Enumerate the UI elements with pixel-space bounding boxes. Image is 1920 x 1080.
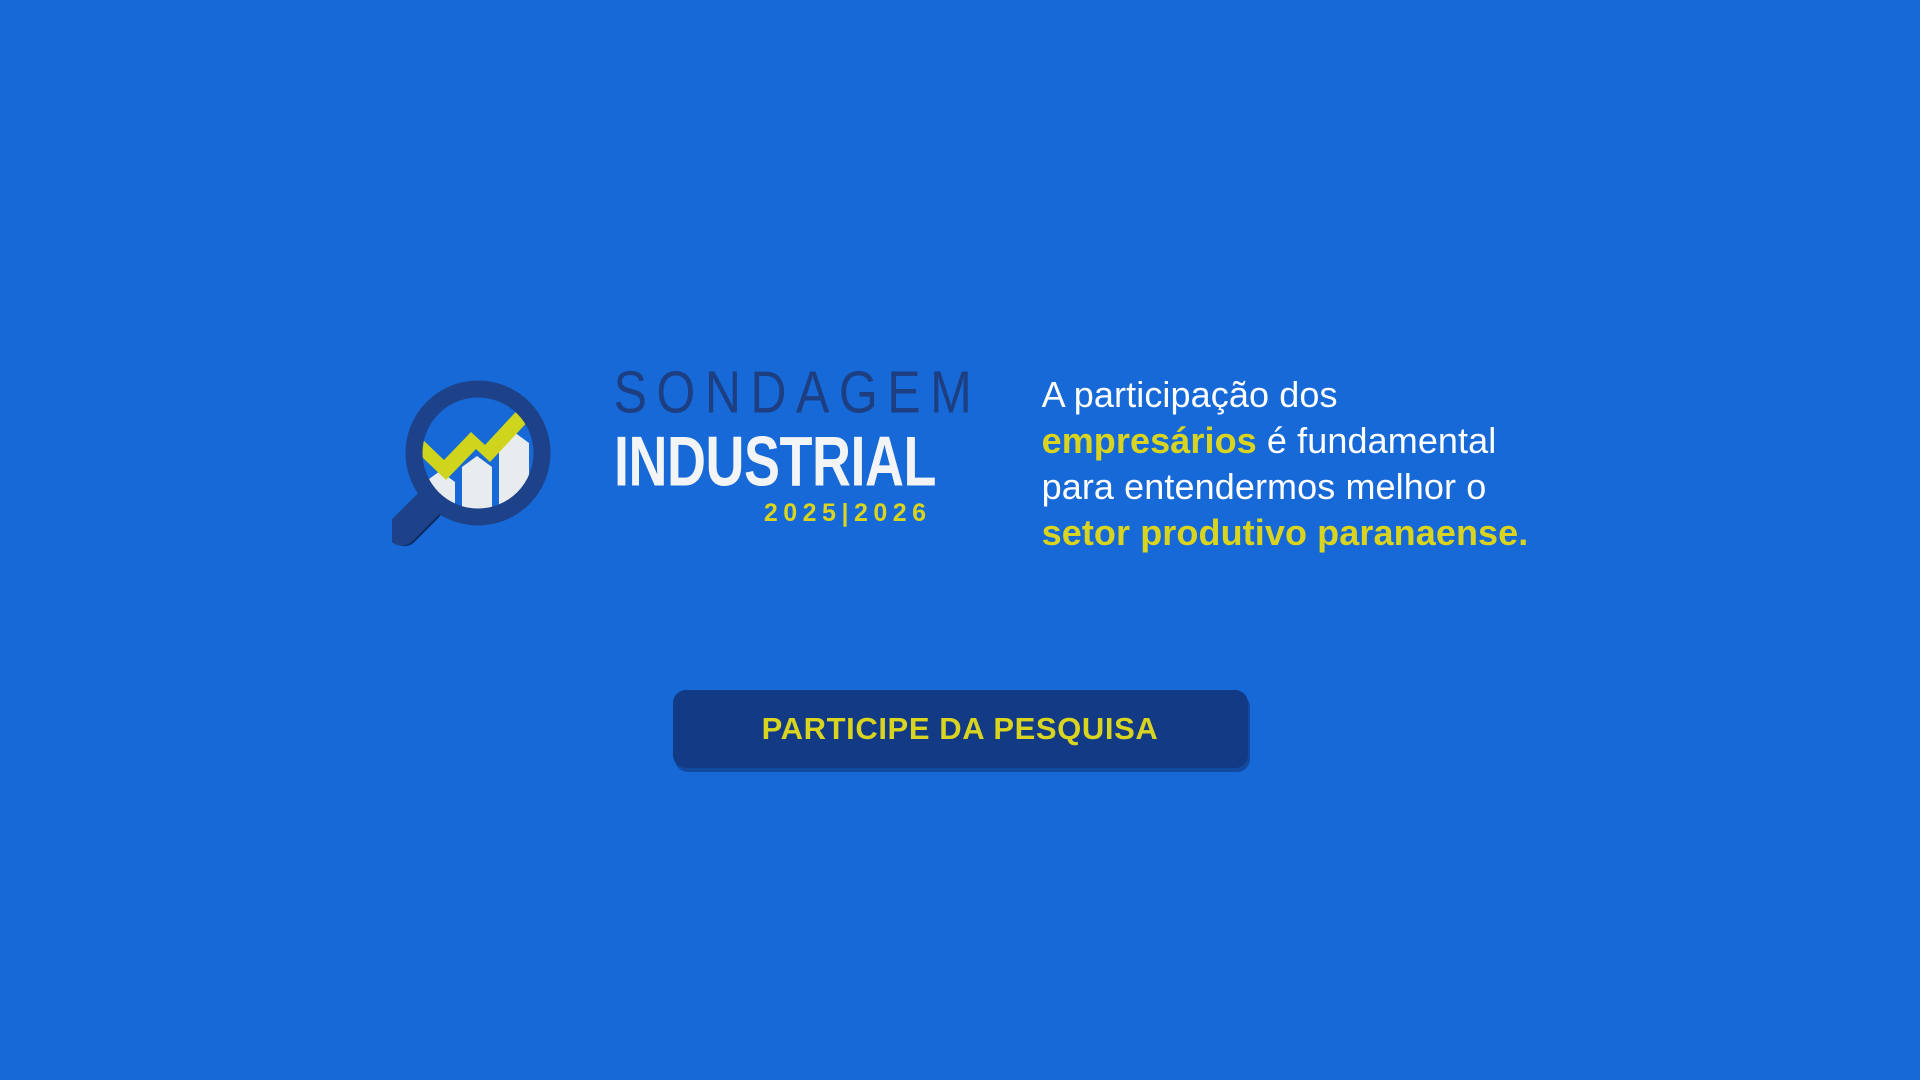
headline-line-1: A participação dos bbox=[1042, 372, 1529, 418]
headline: A participação dos empresários é fundame… bbox=[1042, 355, 1529, 556]
headline-accent-setor-produtivo: setor produtivo paranaense. bbox=[1042, 512, 1529, 553]
hero-row: SONDAGEM INDUSTRIAL 2025|2026 A particip… bbox=[0, 355, 1920, 585]
headline-line-3-text: para entendermos melhor o bbox=[1042, 466, 1487, 507]
wordmark: SONDAGEM INDUSTRIAL 2025|2026 bbox=[614, 355, 932, 526]
headline-accent-empresarios: empresários bbox=[1042, 420, 1257, 461]
cta-container: PARTICIPE DA PESQUISA bbox=[0, 690, 1920, 768]
headline-line-1-text: A participação dos bbox=[1042, 374, 1338, 415]
headline-line-2: empresários é fundamental bbox=[1042, 418, 1529, 464]
wordmark-years: 2025|2026 bbox=[614, 500, 932, 526]
wordmark-sondagem: SONDAGEM bbox=[614, 362, 932, 423]
headline-line-4: setor produtivo paranaense. bbox=[1042, 510, 1529, 556]
wordmark-industrial: INDUSTRIAL bbox=[614, 428, 910, 496]
logo-lockup: SONDAGEM INDUSTRIAL 2025|2026 bbox=[392, 355, 932, 565]
headline-line-3: para entendermos melhor o bbox=[1042, 464, 1529, 510]
magnifying-glass-growth-chart-icon bbox=[392, 355, 592, 565]
promo-banner: SONDAGEM INDUSTRIAL 2025|2026 A particip… bbox=[0, 0, 1920, 1080]
headline-line-2-rest: é fundamental bbox=[1257, 420, 1497, 461]
participate-survey-button[interactable]: PARTICIPE DA PESQUISA bbox=[673, 690, 1248, 768]
